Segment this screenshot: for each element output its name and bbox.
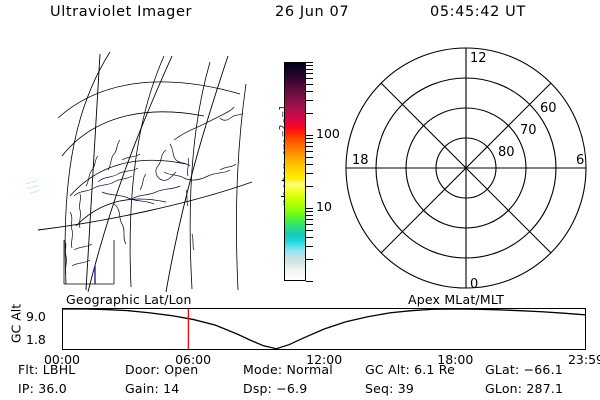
observation-time: 05:45:42 UT [430,4,526,20]
colorbar-minor-tick [306,73,313,74]
status-door: Door: Open [125,362,198,377]
colorbar-scale[interactable] [284,62,306,281]
gc-alt-timeline[interactable]: GC Alt 9.0 1.8 00:0006:0012:0018:0023:59 [0,308,600,364]
mlt-label-18: 18 [352,153,369,168]
colorbar-minor-tick [306,186,313,187]
colorbar-minor-tick [306,100,313,101]
geographic-panel-caption: Geographic Lat/Lon [66,292,192,307]
status-gcalt: GC Alt: 6.1 Re [365,362,455,377]
colorbar-tick-label-100: 100 [316,128,340,141]
colorbar-minor-tick [306,164,313,165]
status-gain: Gain: 14 [125,381,179,396]
colorbar-minor-tick [306,215,313,216]
geographic-image-panel[interactable] [14,44,254,292]
timeline-y-axis-label: GC Alt [9,294,24,354]
colorbar-minor-tick [306,78,313,79]
colorbar-minor-tick [306,246,313,247]
colorbar-minor-tick [306,62,313,63]
status-mode: Mode: Normal [243,362,333,377]
colorbar-minor-tick [306,259,313,260]
colorbar-minor-tick [306,65,313,66]
timeline-curve [63,309,585,349]
timeline-y-tick-high: 9.0 [26,311,46,324]
mlt-label-0: 0 [470,277,478,292]
apex-panel-caption: Apex MLat/MLT [408,292,504,307]
colorbar-minor-tick [306,113,313,114]
status-glat: GLat: −66.1 [485,362,563,377]
colorbar-minor-tick [306,173,313,174]
colorbar-minor-tick [306,91,313,92]
uvi-display-window: Ultraviolet Imager 26 Jun 07 05:45:42 UT [0,0,600,400]
colorbar-minor-tick [306,219,313,220]
colorbar-tick-label-10: 10 [316,201,332,214]
mlt-label-12: 12 [470,51,487,66]
colorbar-minor-tick [306,135,313,136]
colorbar-minor-tick [306,146,313,147]
apex-dial: 12 6 0 18 60 70 80 [338,40,594,296]
timeline-y-tick-low: 1.8 [26,334,46,347]
header-bar: Ultraviolet Imager 26 Jun 07 05:45:42 UT [0,4,600,28]
colorbar-minor-tick [306,211,313,212]
colorbar-minor-tick [306,138,313,139]
mlat-label-60: 60 [540,101,557,116]
colorbar-minor-tick [306,151,313,152]
colorbar-minor-tick [306,208,313,209]
status-glon: GLon: 287.1 [485,381,563,396]
colorbar-minor-tick [306,84,313,85]
instrument-title: Ultraviolet Imager [50,4,192,20]
colorbar-minor-tick [306,157,313,158]
mlt-label-6: 6 [576,153,584,168]
colorbar-minor-tick [306,281,313,282]
status-seq: Seq: 39 [365,381,414,396]
geographic-limb-view [14,44,254,292]
colorbar-minor-tick [306,230,313,231]
colorbar-minor-tick [306,224,313,225]
colorbar-minor-tick [306,237,313,238]
status-flt: Flt: LBHL [18,362,75,377]
colorbar-group: photon cm−2s−1 10010 [258,44,338,294]
status-ip: IP: 36.0 [18,381,67,396]
colorbar-gradient [285,63,305,280]
status-dsp: Dsp: −6.9 [243,381,307,396]
mlat-label-80: 80 [498,145,515,160]
mlat-label-70: 70 [520,123,537,138]
observation-date: 26 Jun 07 [275,4,349,20]
status-footer: Flt: LBHLIP: 36.0Door: OpenGain: 14Mode:… [0,362,600,400]
colorbar-minor-tick [306,142,313,143]
timeline-plot-area[interactable] [62,308,586,350]
colorbar-minor-tick [306,69,313,70]
apex-polar-panel[interactable]: 12 6 0 18 60 70 80 [338,40,594,296]
